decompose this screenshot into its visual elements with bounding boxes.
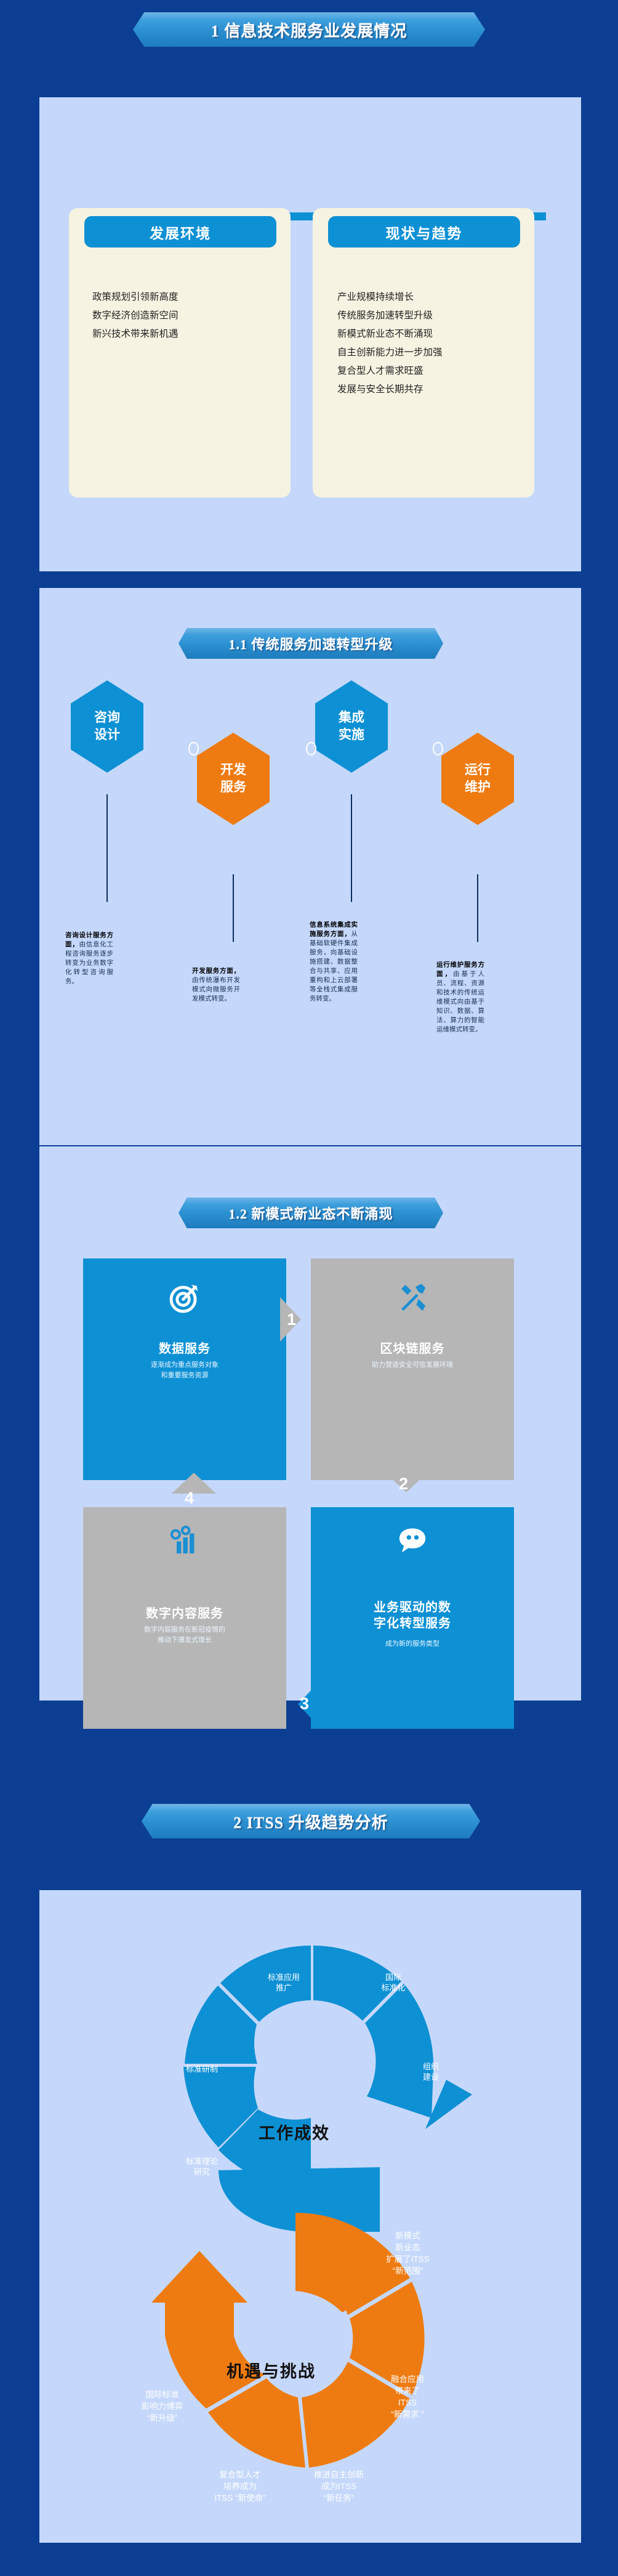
- hex-connector-ring-3: [433, 742, 443, 755]
- section-banner-12-label: 1.2 新模式新业态不断涌现: [228, 1203, 393, 1223]
- desc-lead: 开发服务方面，: [192, 967, 240, 975]
- leader-line-4: [477, 874, 478, 942]
- hexagon-label-line1: 运行: [465, 762, 491, 779]
- chat-icon: [396, 1524, 428, 1556]
- ring-segment-label-new-upgrade: 国际标准 影响力博弈 “新升级”: [121, 2389, 204, 2424]
- quadrant-blockchain-service[interactable]: 区块链服务 助力营造安全可信发展环境: [311, 1258, 514, 1480]
- overview-card-1-header: 发展环境: [84, 216, 276, 248]
- hex-connector-ring-2: [306, 742, 316, 755]
- quadrant-title-line2: 字化转型服务: [374, 1616, 451, 1632]
- quadrant-digital-content-service[interactable]: 数字内容服务 数字内容服务在新冠疫情的 推动下爆发式增长: [83, 1507, 286, 1729]
- quadrant-subtitle-line2: 推动下爆发式增长: [158, 1635, 212, 1646]
- ring-segment-label-new-mission: 复合型人才 培养成为 ITSS “新使命”: [194, 2469, 286, 2504]
- quadrant-subtitle-line1: 数字内容服务在新冠疫情的: [144, 1625, 225, 1635]
- section-banner-12: 1.2 新模式新业态不断涌现: [179, 1197, 443, 1228]
- ring-segment-label-standard-theory: 标准理论 研究: [168, 2156, 236, 2177]
- step-number-4: 4: [185, 1489, 194, 1508]
- infographic-page: 1 信息技术服务业发展情况 发展环境 政策规划引领新高度 数字经济创造新空间 新…: [0, 0, 618, 2576]
- quadrant-data-service[interactable]: 数据服务 逐渐成为重点服务对象 和重要服务资源: [83, 1258, 286, 1480]
- quadrant-subtitle-line2: 和重要服务资源: [161, 1371, 209, 1381]
- quadrant-title-line1: 业务驱动的数: [374, 1600, 451, 1616]
- ring-segment-label-organization: 组织 建设: [403, 2061, 459, 2082]
- arrow-step-3: [278, 1675, 319, 1734]
- hex-connector-ring-1: [188, 742, 199, 755]
- quadrant-title: 区块链服务: [380, 1341, 445, 1357]
- hexagon-label-line2: 维护: [465, 779, 491, 796]
- work-results-center-label: 工作成效: [259, 2120, 330, 2144]
- list-item: 产业规模持续增长: [337, 288, 528, 307]
- quadrant-digital-transformation-service[interactable]: 业务驱动的数 字化转型服务 成为新的服务类型: [311, 1507, 514, 1729]
- overview-card-2-list: 产业规模持续增长 传统服务加速转型升级 新模式新业态不断涌现 自主创新能力进一步…: [337, 288, 528, 399]
- list-item: 新模式新业态不断涌现: [337, 325, 528, 344]
- hex-description-4: 运行维护服务方面，由基于人员、流程、资源和技术的传统运维模式向由基于知识、数据、…: [436, 960, 484, 1034]
- quadrant-title: 数据服务: [159, 1341, 211, 1357]
- arrow-step-1: [280, 1290, 321, 1349]
- desc-body: 由基于人员、流程、资源和技术的传统运维模式向由基于知识、数据、算法、算力的智能运…: [436, 970, 484, 1033]
- hex-description-3: 信息系统集成实施服务方面，从基础软硬件集成服务，向基础设施搭建、数据整合与共享、…: [310, 920, 358, 1004]
- chart-gear-icon: [169, 1524, 201, 1556]
- section-banner-11: 1.1 传统服务加速转型升级: [179, 628, 443, 659]
- leader-line-2: [233, 874, 234, 942]
- quadrant-title: 数字内容服务: [146, 1606, 223, 1622]
- overview-card-1-title: 发展环境: [150, 222, 211, 243]
- hexagon-label-line1: 开发: [220, 762, 246, 779]
- overview-card-2-header: 现状与趋势: [328, 216, 520, 248]
- step-number-1: 1: [287, 1310, 296, 1329]
- list-item: 发展与安全长期共存: [337, 380, 528, 399]
- ring-segment-label-new-demand: 融合应用 带来了 ITSS “新需求 ”: [367, 2373, 447, 2420]
- quadrant-subtitle-line1: 助力营造安全可信发展环境: [372, 1360, 453, 1371]
- desc-lead: 信息系统集成实施服务方面，: [310, 921, 358, 938]
- opportunity-center-label: 机遇与挑战: [227, 2358, 316, 2382]
- ring-segment-label-standard-application: 标准应用 推广: [250, 1972, 318, 1993]
- step-number-3: 3: [300, 1694, 309, 1713]
- overview-card-2-title: 现状与趋势: [386, 222, 463, 243]
- leader-line-3: [351, 794, 352, 902]
- ring-segment-label-standard-development: 标准研制: [168, 2064, 236, 2074]
- list-item: 新兴技术带来新机遇: [92, 325, 277, 344]
- desc-body: 由传统瀑布开发模式向微服务开发模式转变。: [192, 976, 240, 1002]
- hexagon-label-line2: 服务: [220, 779, 246, 796]
- quadrant-subtitle-line1: 逐渐成为重点服务对象: [151, 1360, 219, 1371]
- section-banner-11-label: 1.1 传统服务加速转型升级: [228, 634, 393, 653]
- list-item: 数字经济创造新空间: [92, 307, 277, 325]
- hexagon-label-line2: 设计: [94, 727, 120, 744]
- step-number-2: 2: [399, 1475, 408, 1494]
- leader-line-1: [106, 794, 108, 902]
- desc-body: 从基础软硬件集成服务，向基础设施搭建、数据整合与共享、应用重构和上云部署等全栈式…: [310, 930, 358, 1002]
- list-item: 传统服务加速转型升级: [337, 307, 528, 325]
- hexagon-label-line1: 咨询: [94, 709, 120, 727]
- section-banner-1-label: 1 信息技术服务业发展情况: [211, 18, 407, 41]
- ring-segment-label-new-task: 推进自主创新 成为ITSS “新任务”: [294, 2469, 383, 2504]
- section-banner-2: 2 ITSS 升级趋势分析: [142, 1804, 480, 1838]
- hexagon-label-line1: 集成: [339, 709, 364, 727]
- hex-description-2: 开发服务方面，由传统瀑布开发模式向微服务开发模式转变。: [192, 967, 240, 1004]
- target-icon: [169, 1282, 201, 1314]
- section-banner-1: 1 信息技术服务业发展情况: [133, 12, 485, 47]
- quadrant-subtitle-line1: 成为新的服务类型: [385, 1639, 439, 1649]
- transform-panel: [39, 588, 581, 1145]
- list-item: 复合型人才需求旺盛: [337, 362, 528, 380]
- hexagon-label-line2: 实施: [339, 727, 364, 744]
- section-banner-2-label: 2 ITSS 升级趋势分析: [233, 1810, 388, 1833]
- ring-segment-label-new-scope: 新模式 新业态 扩展了ITSS “新范围”: [366, 2230, 449, 2277]
- tools-icon: [396, 1282, 428, 1314]
- overview-card-1-list: 政策规划引领新高度 数字经济创造新空间 新兴技术带来新机遇: [92, 288, 277, 344]
- hex-description-1: 咨询设计服务方面，由信息化工程咨询服务逐步转变为业务数字化转型咨询服务。: [65, 931, 113, 986]
- list-item: 自主创新能力进一步加强: [337, 344, 528, 362]
- ring-segment-label-international-standard: 国际 标准化: [359, 1972, 427, 1993]
- list-item: 政策规划引领新高度: [92, 288, 277, 307]
- overview-card-1: [69, 208, 291, 497]
